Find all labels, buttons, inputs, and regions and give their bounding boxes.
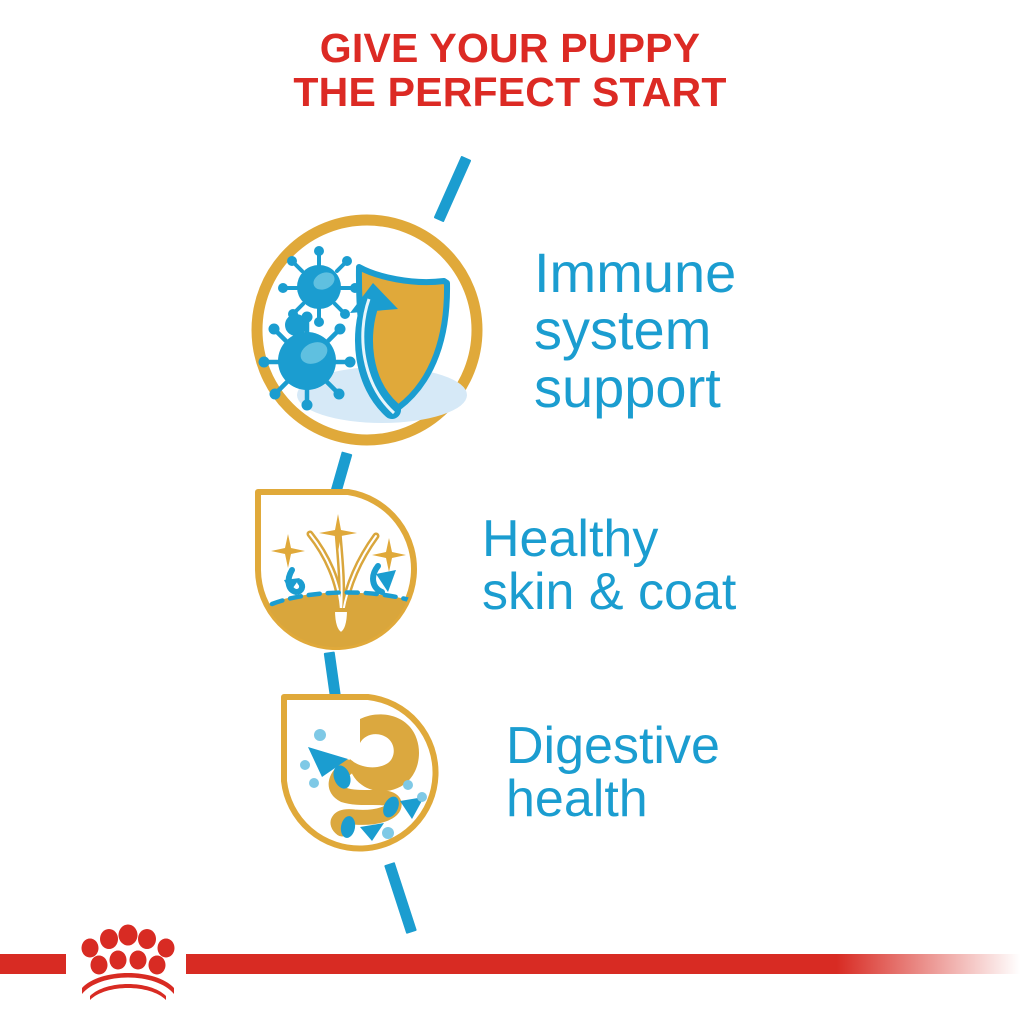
benefit-label-line: system — [534, 301, 736, 358]
page-title: GIVE YOUR PUPPY THE PERFECT START — [0, 26, 1020, 115]
brand-bar-left-segment — [0, 954, 66, 974]
benefit-label-line: Immune — [534, 244, 736, 301]
immune-shield-icon — [242, 205, 492, 455]
brand-bar-right-segment — [186, 954, 1020, 974]
benefit-label-line: support — [534, 359, 736, 416]
benefit-row-skin: Healthy skin & coat — [248, 482, 736, 650]
benefit-label-immune: Immune system support — [534, 244, 736, 415]
connector-dash-bottom — [384, 862, 417, 934]
headline-line-2: THE PERFECT START — [0, 70, 1020, 114]
benefit-row-digestive: Digestive health — [272, 685, 720, 861]
benefit-row-immune: Immune system support — [242, 205, 736, 455]
headline-line-1: GIVE YOUR PUPPY — [0, 26, 1020, 70]
benefit-label-line: Healthy — [482, 513, 736, 566]
skin-coat-follicle-icon — [248, 482, 434, 650]
benefit-label-skin: Healthy skin & coat — [482, 513, 736, 619]
benefit-label-line: Digestive — [506, 720, 720, 773]
benefit-label-digestive: Digestive health — [506, 720, 720, 826]
digestive-stomach-icon — [272, 685, 448, 861]
benefit-label-line: health — [506, 773, 720, 826]
royal-canin-crown-logo — [74, 922, 182, 1002]
benefit-label-line: skin & coat — [482, 566, 736, 619]
poster-canvas: GIVE YOUR PUPPY THE PERFECT START — [0, 0, 1020, 1020]
